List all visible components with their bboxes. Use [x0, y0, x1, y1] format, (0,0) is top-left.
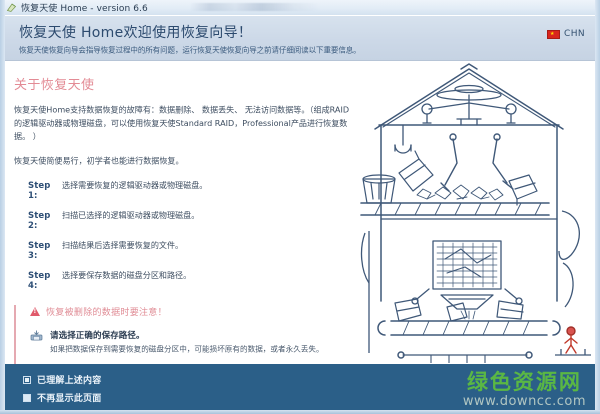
- step-item: Step 1: 选择需要恢复的逻辑驱动器或物理磁盘。: [14, 179, 359, 201]
- factory-house-line-drawing: [357, 63, 595, 363]
- dont-show-checkbox[interactable]: [23, 394, 31, 402]
- about-heading: 关于恢复天使: [14, 74, 359, 93]
- info-column: 关于恢复天使 恢复天使Home支持数据恢复的故障有：数据删除、 数据丢失、 无法…: [14, 61, 359, 364]
- warning-title-text: 恢复被删除的数据时要注意！: [46, 305, 167, 318]
- warning-title-row: 恢复被删除的数据时要注意！: [30, 305, 359, 318]
- header-title: 恢复天使 Home欢迎使用恢复向导！: [19, 22, 252, 42]
- warning-item-body: 请选择正确的保存路径。 如果把数据保存到需要恢复的磁盘分区中，可能损坏原有的数据…: [50, 329, 390, 357]
- step-label: Step 2:: [14, 211, 62, 231]
- warning-triangle-icon: [30, 307, 40, 316]
- app-icon: [6, 2, 17, 13]
- step-text: 扫描结果后选择需要恢复的文件。: [62, 239, 183, 250]
- warning-item-head: 请选择正确的保存路径。: [50, 329, 390, 341]
- checkbox-row-understood[interactable]: 已理解上述内容: [23, 373, 595, 386]
- application-window: 恢复天使 Home - version 6.6 恢复天使 Home欢迎使用恢复向…: [0, 0, 600, 414]
- step-item: Step 2: 扫描已选择的逻辑驱动器或物理磁盘。: [14, 209, 359, 231]
- titlebar-faded-controls: [190, 3, 320, 11]
- window-frame-right: [595, 0, 600, 414]
- steps-list: Step 1: 选择需要恢复的逻辑驱动器或物理磁盘。 Step 2: 扫描已选择…: [14, 179, 359, 291]
- dont-show-label: 不再显示此页面: [37, 391, 101, 404]
- window-frame-bottom: [0, 410, 600, 414]
- warning-item-desc: 如果把数据保存到需要恢复的磁盘分区中，可能损坏原有的数据，或者永久丢失。: [50, 344, 373, 356]
- title-bar: 恢复天使 Home - version 6.6: [0, 0, 600, 15]
- step-text: 扫描已选择的逻辑驱动器或物理磁盘。: [62, 209, 199, 220]
- save-disk-icon: [30, 329, 50, 357]
- understood-checkbox[interactable]: [23, 376, 31, 384]
- step-text: 选择需要恢复的逻辑驱动器或物理磁盘。: [62, 179, 207, 190]
- language-indicator[interactable]: ★ CHN: [547, 29, 585, 39]
- warning-panel: 恢复被删除的数据时要注意！ 请选择正确的保存路径。 如果把数据保存到需要恢复的磁…: [14, 305, 359, 364]
- step-label: Step 1:: [14, 181, 62, 201]
- footer-bar: 已理解上述内容 不再显示此页面: [5, 364, 595, 410]
- step-text: 选择要保存数据的磁盘分区和路径。: [62, 269, 191, 280]
- step-item: Step 3: 扫描结果后选择需要恢复的文件。: [14, 239, 359, 261]
- warning-item: 请选择正确的保存路径。 如果把数据保存到需要恢复的磁盘分区中，可能损坏原有的数据…: [30, 329, 359, 357]
- about-paragraph-1: 恢复天使Home支持数据恢复的故障有：数据删除、 数据丢失、 无法访问数据等。（…: [14, 104, 356, 144]
- step-label: Step 4:: [14, 271, 62, 291]
- about-paragraph-2: 恢复天使简便易行，初学者也能进行数据恢复。: [14, 155, 356, 168]
- step-item: Step 4: 选择要保存数据的磁盘分区和路径。: [14, 269, 359, 291]
- content-area: 关于恢复天使 恢复天使Home支持数据恢复的故障有：数据删除、 数据丢失、 无法…: [5, 61, 595, 364]
- checkbox-row-dont-show[interactable]: 不再显示此页面: [23, 391, 595, 404]
- china-flag-icon: ★: [547, 30, 560, 39]
- language-label: CHN: [564, 29, 585, 39]
- understood-label: 已理解上述内容: [37, 373, 101, 386]
- header-subtitle: 恢复天使恢复向导会指导恢复过程中的所有问题，运行恢复天使恢复向导之前请仔细阅读以…: [19, 45, 361, 55]
- window-title: 恢复天使 Home - version 6.6: [21, 1, 148, 14]
- step-label: Step 3:: [14, 241, 62, 261]
- header-banner: 恢复天使 Home欢迎使用恢复向导！ 恢复天使恢复向导会指导恢复过程中的所有问题…: [5, 16, 595, 61]
